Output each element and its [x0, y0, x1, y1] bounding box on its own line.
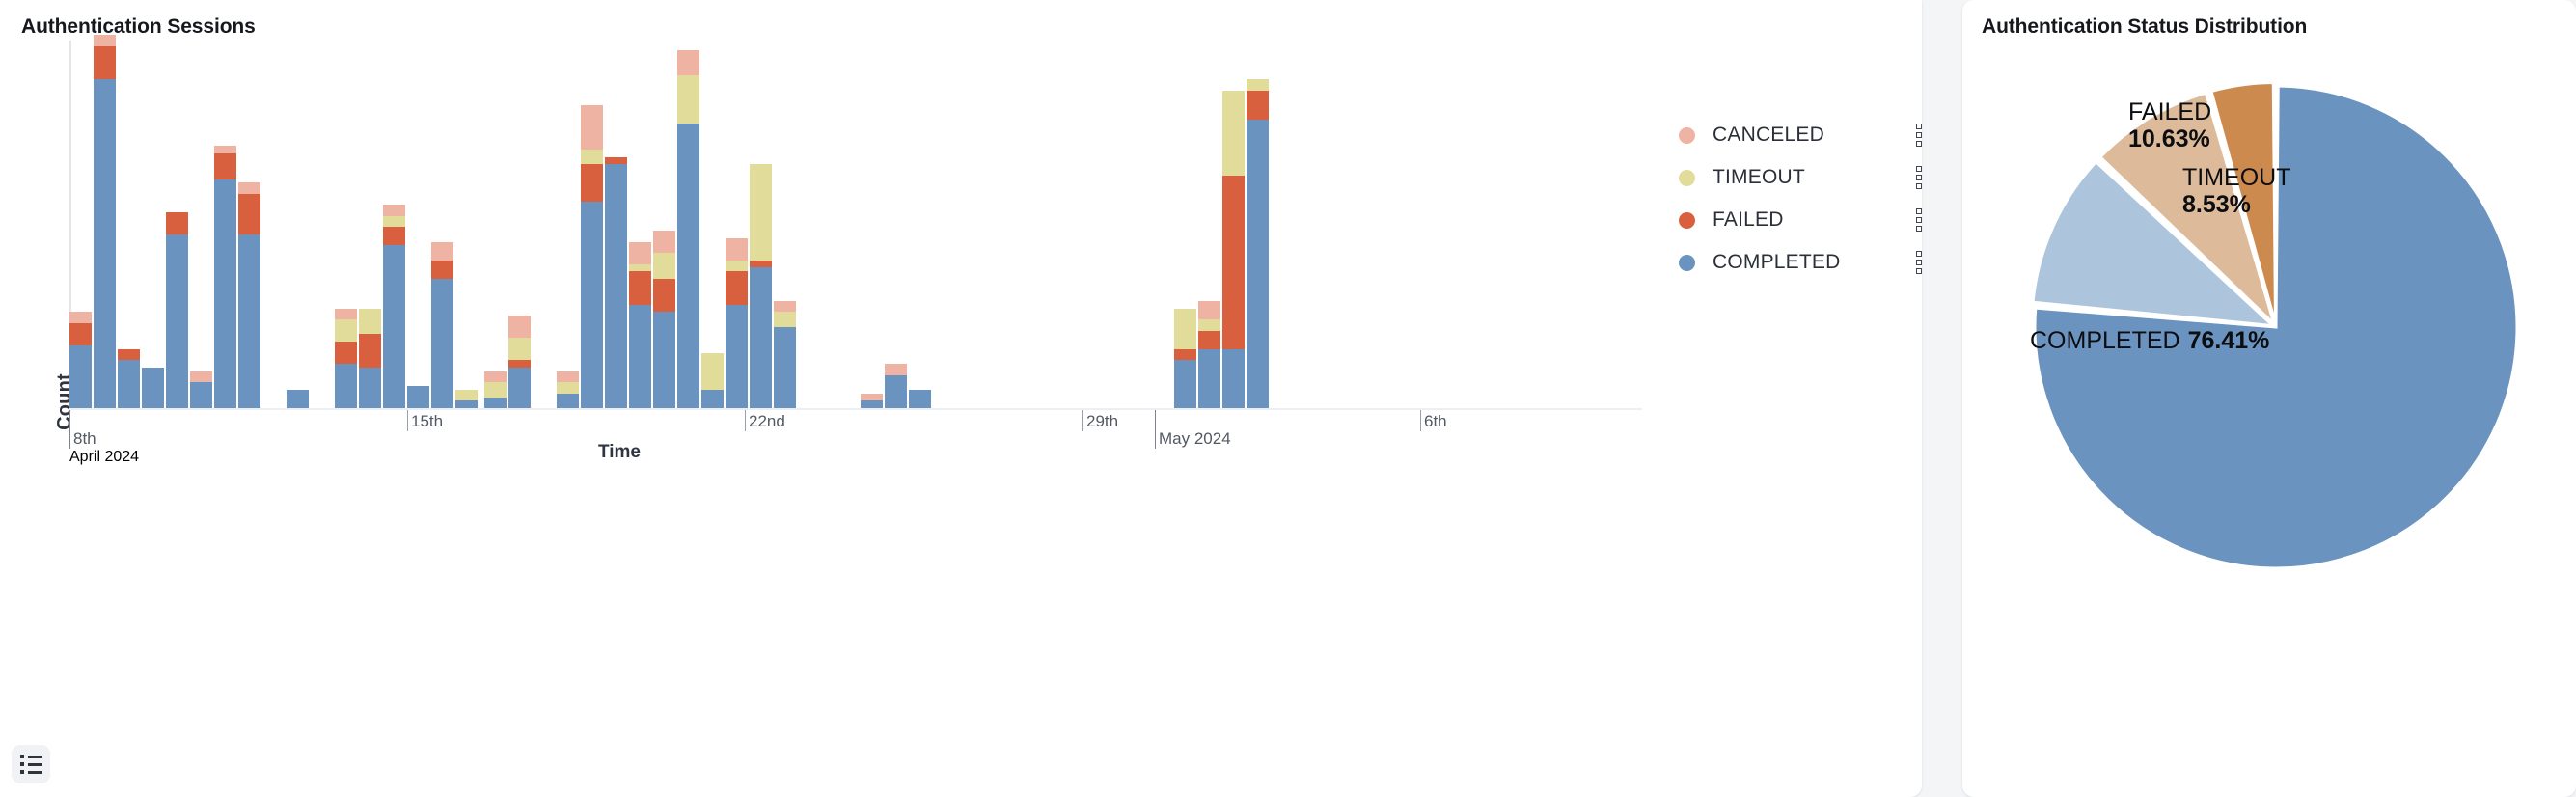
chart-legend: CANCELEDTIMEOUTFAILEDCOMPLETED — [1679, 114, 1901, 284]
bar-segment-timeout[interactable] — [653, 253, 675, 279]
authentication-sessions-panel: Authentication Sessions Count 8thApril 2… — [0, 0, 1922, 797]
bar-segment-timeout[interactable] — [1247, 79, 1269, 90]
bar-segment-failed[interactable] — [238, 194, 260, 234]
bar-segment-completed[interactable] — [455, 400, 478, 408]
bar-segment-failed[interactable] — [726, 271, 748, 304]
bar-segment-canceled[interactable] — [581, 105, 603, 150]
bar-segment-completed[interactable] — [1247, 120, 1269, 408]
plot-area — [69, 39, 1187, 408]
bar-segment-completed[interactable] — [629, 305, 651, 408]
x-axis-ticks: 8thApril 202415th22nd29thMay 20246th — [69, 410, 1642, 478]
bar-stack[interactable] — [94, 35, 116, 408]
bar-stack[interactable] — [287, 390, 309, 408]
x-tick: 6th — [1420, 410, 1447, 431]
legend-color-dot — [1679, 255, 1695, 271]
bar-segment-failed[interactable] — [359, 334, 381, 367]
dashboard: Authentication Sessions Count 8thApril 2… — [0, 0, 2576, 797]
bar-segment-failed[interactable] — [1174, 349, 1196, 360]
bar-stack[interactable] — [359, 309, 381, 408]
drag-handle-icon[interactable] — [1916, 208, 1922, 232]
bar-stack[interactable] — [750, 164, 772, 408]
bar-segment-completed[interactable] — [701, 390, 724, 408]
bar-segment-completed[interactable] — [581, 202, 603, 408]
bar-segment-canceled[interactable] — [69, 312, 92, 322]
bar-segment-failed[interactable] — [581, 164, 603, 201]
bar-segment-completed[interactable] — [1222, 349, 1245, 408]
bar-segment-completed[interactable] — [287, 390, 309, 408]
tick-label: May 2024 — [1155, 429, 1231, 449]
bar-segment-completed[interactable] — [94, 79, 116, 408]
x-axis-label: Time — [598, 442, 641, 463]
legend-list-toggle-button[interactable] — [12, 745, 50, 783]
bar-stack[interactable] — [407, 386, 429, 408]
bar-segment-completed[interactable] — [1198, 349, 1220, 408]
bar-segment-timeout[interactable] — [1222, 91, 1245, 176]
bar-segment-failed[interactable] — [214, 153, 236, 179]
tick-label: 15th — [407, 412, 443, 431]
bar-segment-completed[interactable] — [484, 398, 507, 408]
legend-color-dot — [1679, 127, 1695, 144]
bar-segment-canceled[interactable] — [431, 242, 453, 261]
bar-segment-failed[interactable] — [118, 349, 140, 360]
bar-stack[interactable] — [431, 242, 453, 408]
bar-segment-canceled[interactable] — [383, 205, 405, 215]
bar-stack[interactable] — [455, 390, 478, 408]
bar-segment-failed[interactable] — [94, 46, 116, 79]
legend-item-label: FAILED — [1713, 208, 1784, 232]
bar-stack[interactable] — [508, 316, 531, 408]
bar-stack[interactable] — [383, 205, 405, 408]
legend-item-label: COMPLETED — [1713, 251, 1841, 274]
legend-item-label: CANCELED — [1713, 124, 1824, 147]
x-tick: 22nd — [745, 410, 785, 431]
bar-segment-completed[interactable] — [726, 305, 748, 408]
bar-segment-failed[interactable] — [605, 157, 627, 165]
bar-stack[interactable] — [190, 371, 212, 408]
legend-item-failed[interactable]: FAILED — [1679, 199, 1901, 241]
bar-stack[interactable] — [909, 390, 931, 408]
x-tick: May 2024 — [1155, 410, 1231, 449]
bar-segment-timeout[interactable] — [557, 382, 579, 393]
bar-stack[interactable] — [1222, 91, 1245, 408]
bar-segment-canceled[interactable] — [94, 35, 116, 45]
bar-stack[interactable] — [885, 364, 907, 408]
bar-segment-completed[interactable] — [653, 312, 675, 408]
drag-handle-icon[interactable] — [1916, 166, 1922, 189]
bar-segment-timeout[interactable] — [701, 353, 724, 390]
x-tick: 15th — [407, 410, 443, 431]
pie-panel-title: Authentication Status Distribution — [1962, 0, 2576, 39]
bar-segment-completed[interactable] — [605, 164, 627, 408]
tick-label: 22nd — [745, 412, 785, 431]
bar-segment-failed[interactable] — [1222, 176, 1245, 349]
bar-stack[interactable] — [335, 309, 357, 408]
bar-stack[interactable] — [69, 312, 92, 408]
bar-segment-canceled[interactable] — [214, 146, 236, 153]
bar-segment-timeout[interactable] — [581, 150, 603, 164]
legend-item-canceled[interactable]: CANCELED — [1679, 114, 1901, 156]
bar-segment-timeout[interactable] — [484, 382, 507, 397]
legend-color-dot — [1679, 170, 1695, 186]
bar-segment-canceled[interactable] — [774, 301, 796, 312]
bar-segment-completed[interactable] — [190, 382, 212, 408]
bar-segment-canceled[interactable] — [677, 50, 699, 76]
bar-segment-failed[interactable] — [335, 342, 357, 364]
bar-segment-completed[interactable] — [214, 179, 236, 408]
list-icon — [20, 755, 42, 774]
bar-segment-timeout[interactable] — [629, 264, 651, 272]
bar-stack[interactable] — [118, 349, 140, 408]
bar-stack[interactable] — [484, 371, 507, 408]
bar-segment-timeout[interactable] — [726, 261, 748, 271]
tick-label: 6th — [1420, 412, 1447, 431]
bar-stack[interactable] — [629, 242, 651, 408]
authentication-status-distribution-panel: Authentication Status Distribution COMPL… — [1962, 0, 2576, 797]
bar-segment-completed[interactable] — [407, 386, 429, 408]
bar-segment-canceled[interactable] — [861, 394, 883, 401]
bar-segment-completed[interactable] — [238, 234, 260, 408]
bar-stack[interactable] — [726, 238, 748, 408]
bar-segment-completed[interactable] — [166, 234, 188, 408]
bar-stack[interactable] — [677, 50, 699, 408]
bar-segment-failed[interactable] — [166, 212, 188, 234]
bar-segment-canceled[interactable] — [508, 316, 531, 338]
bar-segment-canceled[interactable] — [885, 364, 907, 374]
bar-segment-completed[interactable] — [142, 368, 164, 408]
bar-stack[interactable] — [142, 368, 164, 408]
bar-segment-completed[interactable] — [861, 400, 883, 408]
bar-segment-completed[interactable] — [508, 368, 531, 408]
bar-series-group — [69, 39, 1642, 408]
bar-segment-canceled[interactable] — [484, 371, 507, 382]
bar-segment-failed[interactable] — [629, 271, 651, 304]
bar-stack[interactable] — [701, 353, 724, 408]
bar-stack[interactable] — [1198, 301, 1220, 408]
bar-stack[interactable] — [581, 105, 603, 408]
bar-segment-failed[interactable] — [750, 261, 772, 268]
x-tick: 8thApril 2024 — [69, 410, 139, 466]
bar-segment-failed[interactable] — [508, 360, 531, 368]
bar-segment-failed[interactable] — [431, 261, 453, 279]
bar-segment-failed[interactable] — [383, 227, 405, 245]
bar-segment-canceled[interactable] — [1198, 301, 1220, 319]
bar-segment-canceled[interactable] — [629, 242, 651, 264]
legend-item-completed[interactable]: COMPLETED — [1679, 241, 1901, 284]
legend-color-dot — [1679, 212, 1695, 229]
bar-stack[interactable] — [1247, 79, 1269, 408]
legend-item-timeout[interactable]: TIMEOUT — [1679, 156, 1901, 199]
tick-label: 29th — [1082, 412, 1118, 431]
bar-segment-completed[interactable] — [774, 327, 796, 408]
bar-segment-completed[interactable] — [885, 375, 907, 408]
drag-handle-icon[interactable] — [1916, 124, 1922, 147]
bar-stack[interactable] — [605, 157, 627, 408]
bar-segment-completed[interactable] — [69, 345, 92, 408]
pie-chart: COMPLETED76.41%FAILED10.63%TIMEOUT8.53% — [1962, 42, 2576, 797]
bar-segment-timeout[interactable] — [677, 75, 699, 124]
bar-segment-completed[interactable] — [118, 360, 140, 408]
page-title: Authentication Sessions — [0, 0, 1922, 39]
legend-item-label: TIMEOUT — [1713, 166, 1805, 189]
bar-segment-completed[interactable] — [359, 368, 381, 408]
tick-label: 8th — [69, 429, 139, 449]
bar-segment-completed[interactable] — [383, 245, 405, 408]
x-tick: 29th — [1082, 410, 1118, 431]
bar-segment-completed[interactable] — [335, 364, 357, 408]
pie-svg — [1962, 42, 2576, 797]
bar-stack[interactable] — [861, 394, 883, 408]
bar-stack[interactable] — [653, 231, 675, 408]
bar-segment-canceled[interactable] — [190, 371, 212, 382]
bar-segment-timeout[interactable] — [774, 312, 796, 326]
bar-segment-timeout[interactable] — [1174, 309, 1196, 349]
bar-segment-timeout[interactable] — [383, 216, 405, 227]
bar-segment-completed[interactable] — [750, 267, 772, 408]
bar-segment-completed[interactable] — [909, 390, 931, 408]
bar-segment-timeout[interactable] — [455, 390, 478, 400]
bar-segment-failed[interactable] — [653, 279, 675, 312]
bar-segment-completed[interactable] — [677, 124, 699, 408]
bar-stack[interactable] — [214, 146, 236, 408]
bar-segment-failed[interactable] — [1247, 91, 1269, 121]
bar-segment-canceled[interactable] — [557, 371, 579, 382]
bar-segment-canceled[interactable] — [335, 309, 357, 319]
bar-stack[interactable] — [557, 371, 579, 408]
bar-segment-timeout[interactable] — [335, 319, 357, 342]
bar-segment-completed[interactable] — [1174, 360, 1196, 408]
bar-segment-canceled[interactable] — [653, 231, 675, 253]
bar-stack[interactable] — [238, 182, 260, 408]
bar-stack[interactable] — [774, 301, 796, 408]
tick-label-secondary: April 2024 — [69, 449, 139, 466]
bar-segment-canceled[interactable] — [726, 238, 748, 261]
bar-segment-timeout[interactable] — [750, 164, 772, 261]
bar-stack[interactable] — [1174, 309, 1196, 408]
bar-segment-failed[interactable] — [1198, 331, 1220, 349]
bar-stack[interactable] — [166, 212, 188, 408]
drag-handle-icon[interactable] — [1916, 251, 1922, 274]
bar-segment-completed[interactable] — [557, 394, 579, 408]
bar-segment-timeout[interactable] — [1198, 319, 1220, 330]
bar-segment-completed[interactable] — [431, 279, 453, 408]
bar-segment-canceled[interactable] — [238, 182, 260, 193]
bar-segment-timeout[interactable] — [359, 309, 381, 335]
bar-segment-failed[interactable] — [69, 323, 92, 345]
bar-chart: Count 8thApril 202415th22nd29thMay 20246… — [0, 39, 1922, 797]
bar-segment-timeout[interactable] — [508, 338, 531, 360]
